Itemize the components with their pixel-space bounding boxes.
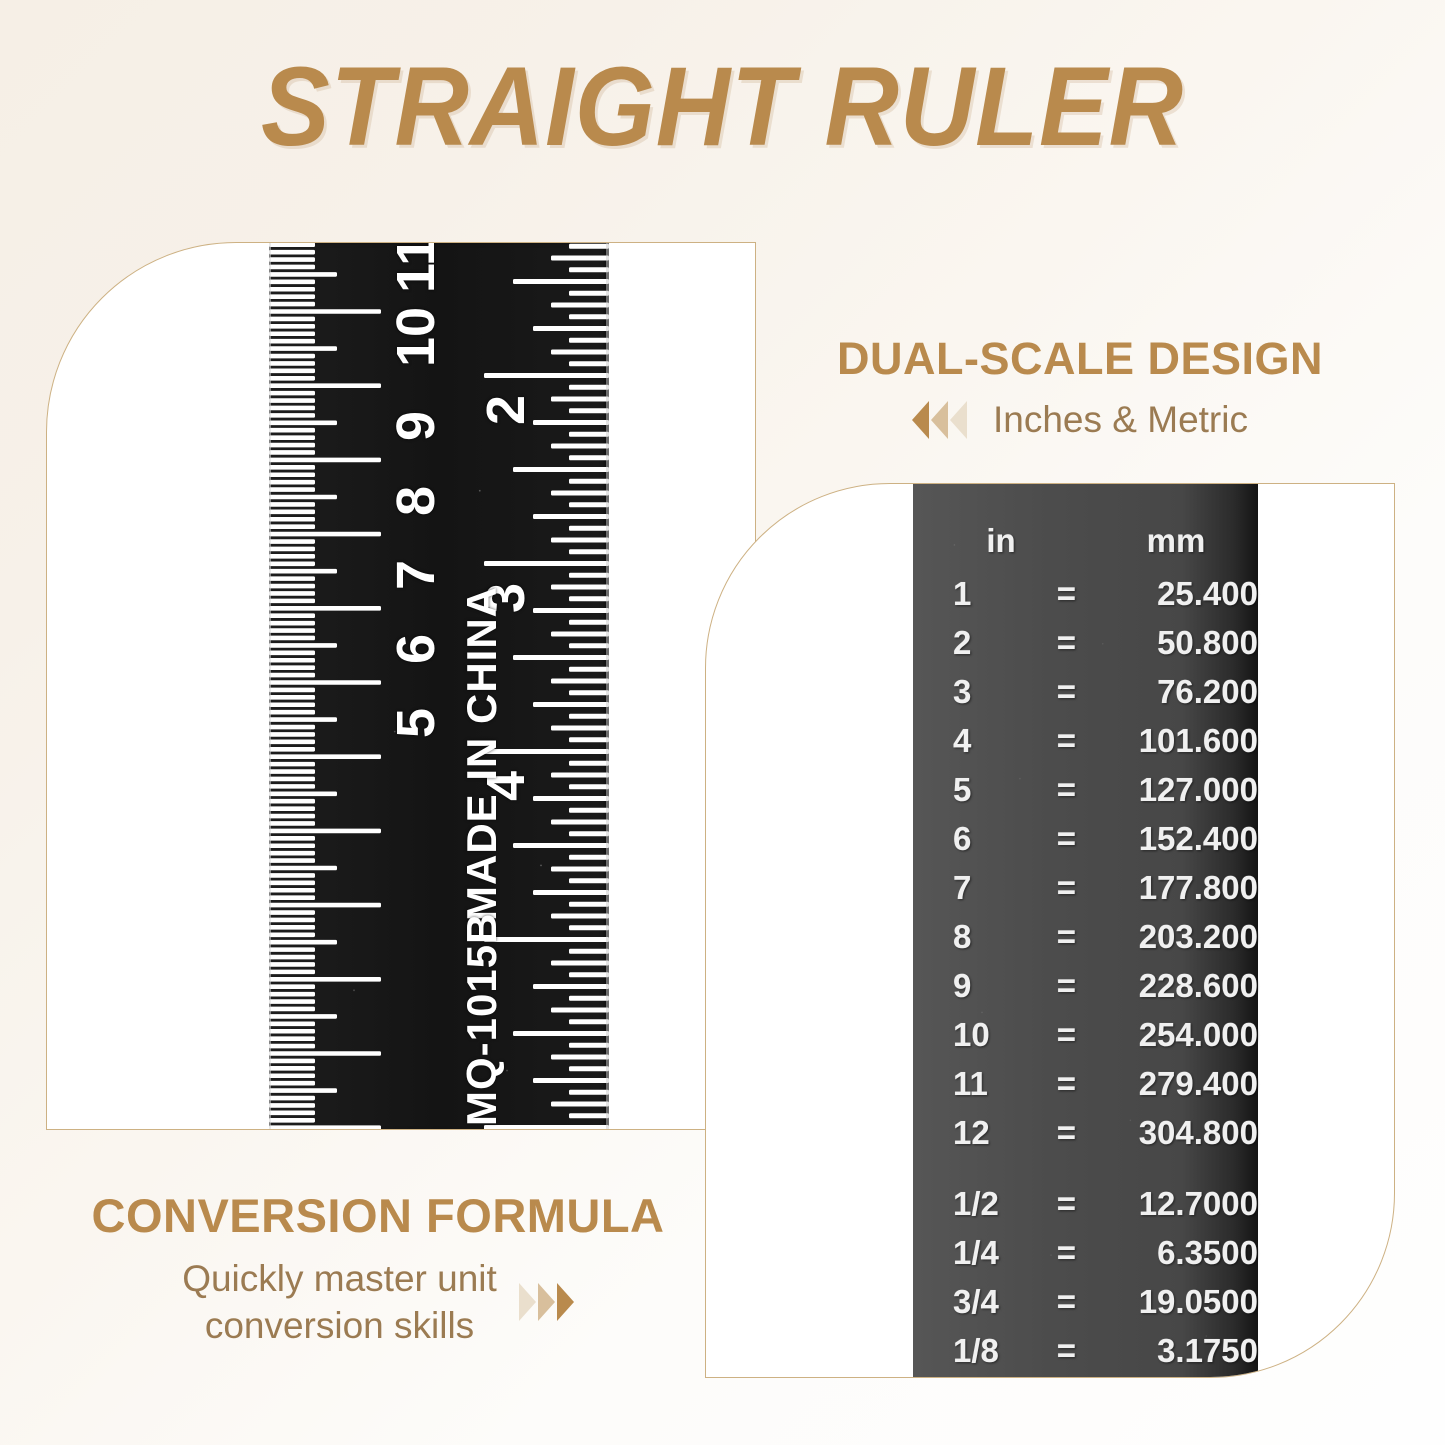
inch-tick bbox=[569, 620, 609, 625]
inch-tick bbox=[513, 843, 609, 848]
inch-tick bbox=[569, 385, 609, 390]
inch-tick bbox=[569, 314, 609, 319]
black-ruler-image: 111098765 234 MADE IN CHINA MQ-1015B bbox=[269, 242, 609, 1130]
metric-tick bbox=[269, 665, 315, 670]
conversion-table-row: 1/8=3.1750 bbox=[913, 1326, 1258, 1375]
ruler-scale-label: 10 bbox=[389, 307, 443, 367]
conversion-equals-sign: = bbox=[1042, 869, 1090, 907]
metric-tick bbox=[269, 947, 315, 952]
metric-tick bbox=[269, 287, 315, 292]
inch-tick bbox=[569, 714, 609, 719]
metric-tick bbox=[269, 443, 315, 448]
inch-tick bbox=[569, 761, 609, 766]
conversion-equals-sign: = bbox=[1042, 624, 1090, 662]
metric-tick bbox=[269, 866, 337, 871]
inch-tick bbox=[569, 667, 609, 672]
metric-tick bbox=[269, 294, 315, 299]
conversion-table-row: 8=203.200 bbox=[913, 912, 1258, 961]
conversion-table-row: 1/2=12.7000 bbox=[913, 1179, 1258, 1228]
inch-tick bbox=[533, 796, 609, 801]
conversion-equals-sign: = bbox=[1042, 1065, 1090, 1103]
inch-tick bbox=[569, 949, 609, 954]
metric-tick bbox=[269, 725, 315, 730]
conversion-equals-sign: = bbox=[1042, 771, 1090, 809]
metric-tick bbox=[269, 932, 315, 937]
metric-tick bbox=[269, 331, 315, 336]
metric-tick bbox=[269, 517, 315, 522]
conversion-table-row: 12=304.800 bbox=[913, 1108, 1258, 1157]
chevron-left-icon bbox=[950, 401, 967, 439]
inch-tick bbox=[551, 303, 609, 308]
conversion-in-value: 1/4 bbox=[953, 1234, 1042, 1272]
inch-tick bbox=[569, 784, 609, 789]
inch-tick bbox=[551, 914, 609, 919]
conversion-mm-value: 19.0500 bbox=[1091, 1283, 1258, 1321]
inch-tick bbox=[513, 279, 609, 284]
metric-tick bbox=[269, 265, 315, 270]
metric-tick bbox=[269, 984, 315, 989]
metric-tick bbox=[269, 450, 315, 455]
inch-tick bbox=[551, 585, 609, 590]
conversion-mm-value: 101.600 bbox=[1091, 722, 1258, 760]
metric-tick bbox=[269, 925, 315, 930]
metric-tick bbox=[269, 747, 315, 752]
metric-tick bbox=[269, 242, 315, 247]
metric-tick bbox=[269, 317, 315, 322]
conversion-equals-sign: = bbox=[1042, 967, 1090, 1005]
metric-tick bbox=[269, 1059, 315, 1064]
inch-tick bbox=[551, 773, 609, 778]
inch-tick bbox=[569, 737, 609, 742]
metric-tick bbox=[269, 502, 315, 507]
conversion-in-value: 7 bbox=[953, 869, 1042, 907]
conversion-equals-sign: = bbox=[1042, 918, 1090, 956]
metric-tick bbox=[269, 688, 315, 693]
feature-dual-scale-subtitle: Inches & Metric bbox=[993, 399, 1248, 441]
conversion-mm-value: 25.400 bbox=[1091, 575, 1258, 613]
conversion-in-value: 8 bbox=[953, 918, 1042, 956]
feature-conversion-formula: CONVERSION FORMULA Quickly master unit c… bbox=[48, 1188, 708, 1350]
inch-tick bbox=[513, 1031, 609, 1036]
inch-tick bbox=[569, 479, 609, 484]
metric-tick bbox=[269, 702, 315, 707]
metric-tick bbox=[269, 754, 381, 759]
metric-tick bbox=[269, 547, 315, 552]
conversion-mm-value: 304.800 bbox=[1091, 1114, 1258, 1152]
inch-tick bbox=[569, 244, 609, 249]
metric-tick bbox=[269, 346, 337, 351]
conversion-table-row: 10=254.000 bbox=[913, 1010, 1258, 1059]
metric-tick bbox=[269, 472, 315, 477]
conversion-mm-value: 127.000 bbox=[1091, 771, 1258, 809]
conversion-table-row: 2=50.800 bbox=[913, 618, 1258, 667]
conversion-mm-value: 50.800 bbox=[1091, 624, 1258, 662]
feature-dual-scale-title: DUAL-SCALE DESIGN bbox=[760, 333, 1400, 385]
conversion-in-value: 4 bbox=[953, 722, 1042, 760]
metric-tick bbox=[269, 561, 315, 566]
inch-tick bbox=[551, 1102, 609, 1107]
metric-tick bbox=[269, 1036, 315, 1041]
metric-tick bbox=[269, 495, 337, 500]
feature-conversion-subline: Quickly master unit conversion skills bbox=[48, 1255, 708, 1350]
chevron-left-icon bbox=[912, 401, 929, 439]
conversion-mm-value: 76.200 bbox=[1091, 673, 1258, 711]
metric-tick bbox=[269, 628, 315, 633]
conversion-table: in mm 1=25.4002=50.8003=76.2004=101.6005… bbox=[913, 522, 1258, 1375]
metric-tick bbox=[269, 680, 381, 685]
inch-tick bbox=[551, 397, 609, 402]
chevron-left-group-icon bbox=[912, 401, 967, 439]
metric-tick bbox=[269, 613, 315, 618]
inch-tick bbox=[551, 444, 609, 449]
metric-tick bbox=[269, 621, 315, 626]
conversion-equals-sign: = bbox=[1042, 1332, 1090, 1370]
metric-tick bbox=[269, 421, 337, 426]
inch-tick bbox=[551, 256, 609, 261]
metric-tick bbox=[269, 918, 315, 923]
metric-tick bbox=[269, 710, 315, 715]
chevron-right-group-icon bbox=[519, 1283, 574, 1321]
metric-tick bbox=[269, 302, 315, 307]
inch-tick bbox=[569, 1043, 609, 1048]
conversion-table-row: 7=177.800 bbox=[913, 863, 1258, 912]
inch-tick bbox=[569, 831, 609, 836]
metric-tick bbox=[269, 695, 315, 700]
metric-tick bbox=[269, 383, 381, 388]
inch-tick bbox=[533, 984, 609, 989]
conversion-table-row: 11=279.400 bbox=[913, 1059, 1258, 1108]
inch-tick bbox=[569, 526, 609, 531]
metric-tick bbox=[269, 1014, 337, 1019]
metric-tick bbox=[269, 591, 315, 596]
conversion-equals-sign: = bbox=[1042, 575, 1090, 613]
inch-tick bbox=[569, 1113, 609, 1118]
metric-tick bbox=[269, 769, 315, 774]
conversion-equals-sign: = bbox=[1042, 820, 1090, 858]
metric-tick bbox=[269, 873, 315, 878]
conversion-in-value: 11 bbox=[953, 1065, 1042, 1103]
metric-tick bbox=[269, 465, 315, 470]
ruler-scale-label: 5 bbox=[389, 708, 443, 738]
inch-tick bbox=[569, 1019, 609, 1024]
inch-tick bbox=[569, 549, 609, 554]
conversion-in-value: 12 bbox=[953, 1114, 1042, 1152]
metric-tick bbox=[269, 1073, 315, 1078]
metric-tick bbox=[269, 732, 315, 737]
conversion-equals-sign: = bbox=[1042, 673, 1090, 711]
metric-tick bbox=[269, 510, 315, 515]
metric-tick bbox=[269, 829, 381, 834]
inch-tick bbox=[569, 925, 609, 930]
metric-tick bbox=[269, 910, 315, 915]
conversion-in-value: 1 bbox=[953, 575, 1042, 613]
conversion-mm-value: 12.7000 bbox=[1091, 1185, 1258, 1223]
conversion-in-value: 10 bbox=[953, 1016, 1042, 1054]
metric-tick bbox=[269, 376, 315, 381]
header-mm: mm bbox=[1101, 522, 1251, 560]
ruler-scale-label: 6 bbox=[389, 634, 443, 664]
metric-tick bbox=[269, 843, 315, 848]
inch-tick bbox=[533, 420, 609, 425]
right-product-panel: in mm 1=25.4002=50.8003=76.2004=101.6005… bbox=[705, 483, 1395, 1378]
conversion-equals-sign: = bbox=[1042, 1016, 1090, 1054]
conversion-in-value: 1/8 bbox=[953, 1332, 1042, 1370]
inch-tick bbox=[569, 690, 609, 695]
inch-tick bbox=[569, 1066, 609, 1071]
metric-tick bbox=[269, 792, 337, 797]
metric-tick bbox=[269, 1007, 315, 1012]
conversion-in-value: 9 bbox=[953, 967, 1042, 1005]
metric-tick bbox=[269, 1088, 337, 1093]
inch-tick bbox=[569, 432, 609, 437]
metric-tick bbox=[269, 658, 315, 663]
feature-dual-scale-subline: Inches & Metric bbox=[760, 399, 1400, 441]
inch-tick bbox=[569, 643, 609, 648]
metric-tick bbox=[269, 1022, 315, 1027]
metric-tick bbox=[269, 369, 315, 374]
inch-tick bbox=[551, 1008, 609, 1013]
conversion-in-value: 6 bbox=[953, 820, 1042, 858]
conversion-mm-value: 6.3500 bbox=[1091, 1234, 1258, 1272]
inch-tick bbox=[569, 972, 609, 977]
metric-tick bbox=[269, 1096, 315, 1101]
left-product-panel: 111098765 234 MADE IN CHINA MQ-1015B bbox=[46, 242, 756, 1130]
inch-tick bbox=[551, 1055, 609, 1060]
conversion-equals-sign: = bbox=[1042, 1234, 1090, 1272]
metric-tick bbox=[269, 888, 315, 893]
inch-tick bbox=[569, 455, 609, 460]
ruler-scale-label: 11 bbox=[389, 242, 443, 293]
metric-tick bbox=[269, 413, 315, 418]
conversion-in-value: 3 bbox=[953, 673, 1042, 711]
inch-tick bbox=[533, 514, 609, 519]
conversion-table-row: 6=152.400 bbox=[913, 814, 1258, 863]
metric-tick bbox=[269, 584, 315, 589]
conversion-mm-value: 177.800 bbox=[1091, 869, 1258, 907]
inch-tick bbox=[551, 350, 609, 355]
inch-tick bbox=[533, 890, 609, 895]
inch-tick bbox=[551, 867, 609, 872]
metric-tick bbox=[269, 651, 315, 656]
ruler-scale-label: 8 bbox=[389, 486, 443, 516]
metric-tick bbox=[269, 799, 315, 804]
inch-tick bbox=[551, 679, 609, 684]
metric-tick bbox=[269, 539, 315, 544]
conversion-mm-value: 203.200 bbox=[1091, 918, 1258, 956]
inch-tick bbox=[533, 702, 609, 707]
feature-dual-scale: DUAL-SCALE DESIGN Inches & Metric bbox=[760, 333, 1400, 441]
metric-tick bbox=[269, 257, 315, 262]
metric-tick bbox=[269, 1103, 315, 1108]
conversion-mm-value: 152.400 bbox=[1091, 820, 1258, 858]
inch-tick bbox=[569, 408, 609, 413]
inch-tick bbox=[569, 267, 609, 272]
inch-tick bbox=[569, 878, 609, 883]
inch-tick bbox=[533, 326, 609, 331]
metric-tick bbox=[269, 324, 315, 329]
metric-tick bbox=[269, 354, 315, 359]
conversion-in-value: 1/2 bbox=[953, 1185, 1042, 1223]
inch-tick bbox=[484, 373, 609, 378]
metric-tick bbox=[269, 280, 315, 285]
metric-tick bbox=[269, 955, 315, 960]
metric-tick bbox=[269, 361, 315, 366]
chevron-left-icon bbox=[931, 401, 948, 439]
conversion-mm-value: 279.400 bbox=[1091, 1065, 1258, 1103]
metric-tick bbox=[269, 599, 315, 604]
conversion-equals-sign: = bbox=[1042, 1114, 1090, 1152]
header-spacer bbox=[1049, 522, 1101, 560]
metric-tick bbox=[269, 272, 337, 277]
inch-tick bbox=[551, 538, 609, 543]
conversion-table-row: 4=101.600 bbox=[913, 716, 1258, 765]
page-title: STRAIGHT RULER bbox=[58, 48, 1387, 166]
inch-tick bbox=[569, 573, 609, 578]
metric-tick bbox=[269, 1051, 381, 1056]
ruler-scale-label: 7 bbox=[389, 560, 443, 590]
metric-tick bbox=[269, 576, 315, 581]
conversion-table-row: 3/4=19.0500 bbox=[913, 1277, 1258, 1326]
metric-tick bbox=[269, 740, 315, 745]
ruler-brand-text: MADE IN CHINA bbox=[461, 586, 503, 921]
ruler-scale-label: 2 bbox=[479, 395, 533, 425]
inch-tick bbox=[484, 561, 609, 566]
inch-tick bbox=[569, 502, 609, 507]
metric-tick bbox=[269, 606, 381, 611]
conversion-equals-sign: = bbox=[1042, 722, 1090, 760]
inch-tick bbox=[569, 361, 609, 366]
metric-tick bbox=[269, 391, 315, 396]
inch-tick bbox=[551, 491, 609, 496]
conversion-in-value: 2 bbox=[953, 624, 1042, 662]
conversion-table-row: 5=127.000 bbox=[913, 765, 1258, 814]
inch-tick bbox=[569, 1090, 609, 1095]
metric-tick bbox=[269, 784, 315, 789]
metric-tick bbox=[269, 777, 315, 782]
inch-tick bbox=[533, 1078, 609, 1083]
conversion-equals-sign: = bbox=[1042, 1283, 1090, 1321]
conversion-table-row: 1/4=6.3500 bbox=[913, 1228, 1258, 1277]
inch-tick bbox=[551, 961, 609, 966]
inch-tick bbox=[551, 726, 609, 731]
metric-tick bbox=[269, 636, 315, 641]
inch-tick bbox=[551, 632, 609, 637]
inch-tick bbox=[533, 608, 609, 613]
metric-tick bbox=[269, 1044, 315, 1049]
metric-tick bbox=[269, 962, 315, 967]
conversion-in-value: 5 bbox=[953, 771, 1042, 809]
inch-tick bbox=[513, 467, 609, 472]
conversion-table-row: 9=228.600 bbox=[913, 961, 1258, 1010]
feature-conversion-title: CONVERSION FORMULA bbox=[48, 1188, 708, 1243]
metric-tick bbox=[269, 673, 315, 678]
conversion-mm-value: 254.000 bbox=[1091, 1016, 1258, 1054]
ruler-model-text: MQ-1015B bbox=[461, 913, 503, 1126]
metric-tick bbox=[269, 569, 337, 574]
metric-tick bbox=[269, 895, 315, 900]
metric-tick bbox=[269, 487, 315, 492]
black-ruler-graphic bbox=[269, 242, 609, 1130]
ruler-scale-label: 9 bbox=[389, 411, 443, 441]
chevron-right-icon bbox=[519, 1283, 536, 1321]
metric-tick bbox=[269, 1066, 315, 1071]
metric-tick bbox=[269, 554, 315, 559]
metric-tick bbox=[269, 836, 315, 841]
metric-tick bbox=[269, 398, 315, 403]
metric-tick bbox=[269, 1081, 315, 1086]
inch-tick bbox=[569, 596, 609, 601]
metric-tick bbox=[269, 940, 337, 945]
inch-tick bbox=[569, 855, 609, 860]
metric-tick bbox=[269, 643, 337, 648]
metric-tick bbox=[269, 903, 381, 908]
metric-tick bbox=[269, 717, 337, 722]
metric-tick bbox=[269, 435, 315, 440]
metric-tick bbox=[269, 821, 315, 826]
inch-tick bbox=[513, 655, 609, 660]
header-in: in bbox=[953, 522, 1049, 560]
metric-tick bbox=[269, 480, 315, 485]
inch-tick bbox=[551, 820, 609, 825]
metric-tick bbox=[269, 970, 315, 975]
inch-tick bbox=[569, 808, 609, 813]
conversion-table-header: in mm bbox=[913, 522, 1258, 560]
inch-tick bbox=[569, 291, 609, 296]
metric-tick bbox=[269, 977, 381, 982]
metric-tick bbox=[269, 1111, 315, 1116]
conversion-equals-sign: = bbox=[1042, 1185, 1090, 1223]
gray-ruler-image: in mm 1=25.4002=50.8003=76.2004=101.6005… bbox=[913, 483, 1258, 1378]
inch-tick bbox=[569, 996, 609, 1001]
metric-tick bbox=[269, 406, 315, 411]
metric-tick bbox=[269, 1118, 315, 1123]
metric-tick bbox=[269, 1125, 381, 1130]
conversion-table-row: 1=25.400 bbox=[913, 569, 1258, 618]
conversion-table-row: 3=76.200 bbox=[913, 667, 1258, 716]
metric-tick bbox=[269, 250, 315, 255]
metric-tick bbox=[269, 458, 381, 463]
feature-conversion-body-line2: conversion skills bbox=[205, 1305, 474, 1346]
metric-tick bbox=[269, 309, 381, 314]
metric-tick bbox=[269, 762, 315, 767]
metric-tick bbox=[269, 1029, 315, 1034]
metric-tick bbox=[269, 881, 315, 886]
metric-tick bbox=[269, 532, 381, 537]
metric-tick bbox=[269, 999, 315, 1004]
metric-tick bbox=[269, 992, 315, 997]
chevron-right-icon bbox=[557, 1283, 574, 1321]
inch-tick bbox=[569, 338, 609, 343]
conversion-mm-value: 3.1750 bbox=[1091, 1332, 1258, 1370]
inch-tick bbox=[569, 902, 609, 907]
metric-tick bbox=[269, 858, 315, 863]
feature-conversion-body: Quickly master unit conversion skills bbox=[182, 1255, 497, 1350]
conversion-in-value: 3/4 bbox=[953, 1283, 1042, 1321]
feature-conversion-body-line1: Quickly master unit bbox=[182, 1258, 497, 1299]
metric-tick bbox=[269, 814, 315, 819]
metric-tick bbox=[269, 428, 315, 433]
metric-tick bbox=[269, 339, 315, 344]
conversion-mm-value: 228.600 bbox=[1091, 967, 1258, 1005]
metric-tick bbox=[269, 524, 315, 529]
metric-tick bbox=[269, 806, 315, 811]
chevron-right-icon bbox=[538, 1283, 555, 1321]
metric-tick bbox=[269, 851, 315, 856]
